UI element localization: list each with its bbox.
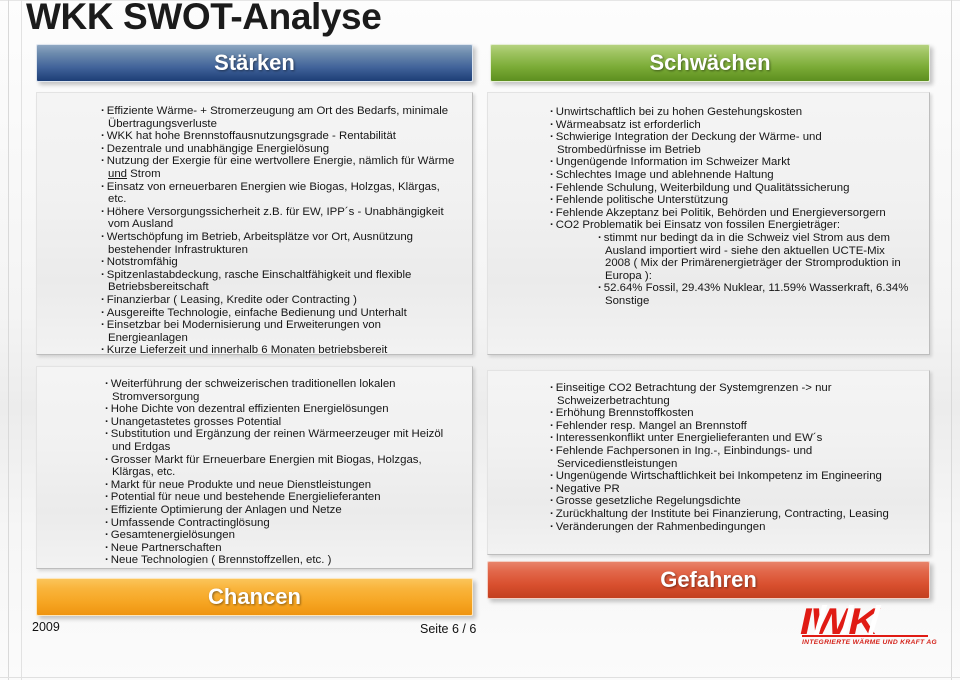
bullet-item: Fehlende politische Unterstützung xyxy=(550,194,913,207)
bullet-item: Nutzung der Exergie für eine wertvollere… xyxy=(101,155,458,180)
quadrant-box-strengths: Effiziente Wärme- + Stromerzeugung am Or… xyxy=(36,92,473,355)
bullet-item: Negative PR xyxy=(550,483,913,496)
bullet-item: Effiziente Optimierung der Anlagen und N… xyxy=(105,504,458,517)
bullet-item: Fehlende Akzeptanz bei Politik, Behörden… xyxy=(550,207,913,220)
bullet-item: Erhöhung Brennstoffkosten xyxy=(550,407,913,420)
logo-tagline: INTEGRIERTE WÄRME UND KRAFT AG xyxy=(802,639,935,646)
bullet-item: Spitzenlastabdeckung, rasche Einschaltfä… xyxy=(101,269,458,294)
quadrant-header-opportunities: Chancen xyxy=(36,578,473,616)
bullet-item: Ungenügende Information im Schweizer Mar… xyxy=(550,156,913,169)
bullet-item: Fehlender resp. Mangel an Brennstoff xyxy=(550,420,913,433)
bullet-item: Markt für neue Produkte und neue Dienstl… xyxy=(105,479,458,492)
quadrant-box-threats: Einseitige CO2 Betrachtung der Systemgre… xyxy=(487,370,930,555)
quadrant-header-weaknesses: Schwächen xyxy=(490,44,930,82)
bullet-item: Finanzierbar ( Leasing, Kredite oder Con… xyxy=(101,294,458,307)
bullet-item: 52.64% Fossil, 29.43% Nuklear, 11.59% Wa… xyxy=(598,282,913,307)
bullet-item: Unangetastetes grosses Potential xyxy=(105,416,458,429)
bullet-item: Dezentrale und unabhängige Energielösung xyxy=(101,143,458,156)
bullet-item: Kurze Lieferzeit und innerhalb 6 Monaten… xyxy=(101,344,458,355)
bullet-list-strengths: Effiziente Wärme- + Stromerzeugung am Or… xyxy=(101,105,458,355)
bullet-item: Einsatz von erneuerbaren Energien wie Bi… xyxy=(101,181,458,206)
quadrant-header-strengths: Stärken xyxy=(36,44,473,82)
bullet-item: Weiterführung der schweizerischen tradit… xyxy=(105,378,458,403)
quadrant-box-weaknesses: Unwirtschaftlich bei zu hohen Gestehungs… xyxy=(487,92,930,355)
iwk-logo: IWK INTEGRIERTE WÄRME UND KRAFT AG xyxy=(800,604,930,652)
page-title: WKK SWOT-Analyse xyxy=(26,0,381,38)
logo-underbar xyxy=(802,635,928,637)
left-inner-rule xyxy=(21,0,22,680)
bullet-item: Substitution und Ergänzung der reinen Wä… xyxy=(105,428,458,453)
bullet-item: Veränderungen der Rahmenbedingungen xyxy=(550,521,913,534)
logo-wordmark: IWK xyxy=(800,604,930,637)
bullet-list-opportunities: Weiterführung der schweizerischen tradit… xyxy=(105,378,458,567)
bullet-item: Einseitige CO2 Betrachtung der Systemgre… xyxy=(550,382,913,407)
bullet-item: Fehlende Schulung, Weiterbildung und Qua… xyxy=(550,182,913,195)
bullet-item: Höhere Versorgungssicherheit z.B. für EW… xyxy=(101,206,458,231)
bullet-item: Einsetzbar bei Modernisierung und Erweit… xyxy=(101,319,458,344)
bullet-list-threats: Einseitige CO2 Betrachtung der Systemgre… xyxy=(550,382,913,533)
bottom-divider xyxy=(0,677,960,678)
bullet-item: Neue Technologien ( Brennstoffzellen, et… xyxy=(105,554,458,567)
bullet-list-weaknesses: Unwirtschaftlich bei zu hohen Gestehungs… xyxy=(550,106,913,308)
bullet-item: WKK hat hohe Brennstoffausnutzungsgrade … xyxy=(101,130,458,143)
footer-year: 2009 xyxy=(32,620,60,634)
bullet-item: Gesamtenergielösungen xyxy=(105,529,458,542)
footer-page-number: Seite 6 / 6 xyxy=(420,622,476,636)
bullet-item: Schlechtes Image und ablehnende Haltung xyxy=(550,169,913,182)
bullet-item: Potential für neue und bestehende Energi… xyxy=(105,491,458,504)
bullet-item: Wärmeabsatz ist erforderlich xyxy=(550,119,913,132)
bullet-item: stimmt nur bedingt da in die Schweiz vie… xyxy=(598,232,913,282)
bullet-item: Zurückhaltung der Institute bei Finanzie… xyxy=(550,508,913,521)
bullet-item: Wertschöpfung im Betrieb, Arbeitsplätze … xyxy=(101,231,458,256)
bullet-item: CO2 Problematik bei Einsatz von fossilen… xyxy=(550,219,913,232)
bullet-item: Neue Partnerschaften xyxy=(105,542,458,555)
bullet-item: Grosser Markt für Erneuerbare Energien m… xyxy=(105,454,458,479)
quadrant-box-opportunities: Weiterführung der schweizerischen tradit… xyxy=(36,366,473,569)
slide-canvas: WKK SWOT-Analyse Stärken Effiziente Wärm… xyxy=(0,0,960,680)
bullet-item: Hohe Dichte von dezentral effizienten En… xyxy=(105,403,458,416)
bullet-item: Schwierige Integration der Deckung der W… xyxy=(550,131,913,156)
bullet-item: Fehlende Fachpersonen in Ing.-, Einbindu… xyxy=(550,445,913,470)
quadrant-header-threats: Gefahren xyxy=(487,561,930,599)
right-edge-rule xyxy=(951,0,952,680)
bullet-item: Unwirtschaftlich bei zu hohen Gestehungs… xyxy=(550,106,913,119)
bullet-item: Interessenkonflikt unter Energielieferan… xyxy=(550,432,913,445)
left-edge-rule xyxy=(8,0,9,680)
bullet-item: Umfassende Contractinglösung xyxy=(105,517,458,530)
bullet-item: Notstromfähig xyxy=(101,256,458,269)
bullet-item: Grosse gesetzliche Regelungsdichte xyxy=(550,495,913,508)
bullet-item: Ausgereifte Technologie, einfache Bedien… xyxy=(101,307,458,320)
bullet-item: Ungenügende Wirtschaftlichkeit bei Inkom… xyxy=(550,470,913,483)
bullet-item: Effiziente Wärme- + Stromerzeugung am Or… xyxy=(101,105,458,130)
